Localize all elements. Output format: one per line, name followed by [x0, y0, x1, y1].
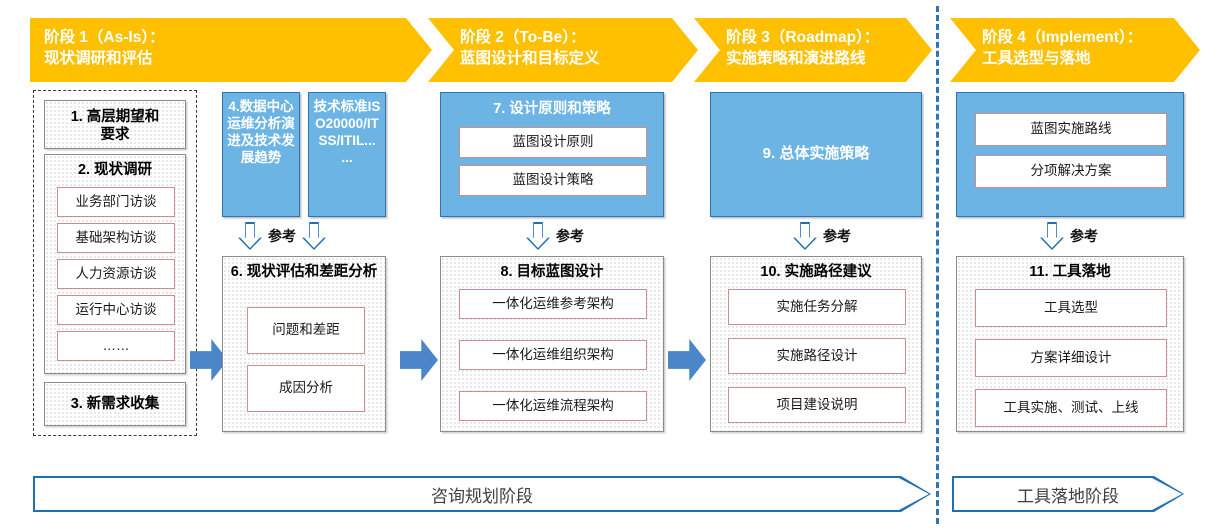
reference-label: 参考	[268, 226, 296, 246]
stage-banner-consulting: 咨询规划阶段	[33, 476, 931, 512]
phase-divider	[936, 6, 939, 524]
box-10-implementation-path: 10. 实施路径建议 实施任务分解 实施路径设计 项目建设说明	[710, 256, 922, 432]
box-8-target-blueprint: 8. 目标蓝图设计 一体化运维参考架构 一体化运维组织架构 一体化运维流程架构	[440, 256, 664, 432]
list-item[interactable]: 问题和差距	[247, 307, 365, 354]
list-item[interactable]: 项目建设说明	[728, 387, 906, 423]
box-technical-standards: 技术标准ISO20000/ITSS/ITIL... ...	[308, 92, 386, 217]
reference-arrow-group-col2: 参考	[238, 222, 326, 250]
box-11-title: 11. 工具落地	[957, 257, 1183, 281]
phase-banner-4: 阶段 4（Implement）： 工具选型与落地	[950, 18, 1200, 82]
box-8-title: 8. 目标蓝图设计	[441, 257, 663, 281]
phase-banner-3-line1: 阶段 3（Roadmap）：	[726, 27, 932, 48]
list-item[interactable]: 一体化运维参考架构	[459, 289, 647, 319]
box-1-high-level-expectations: 1. 高层期望和 要求	[44, 100, 186, 149]
phase-banner-4-line1: 阶段 4（Implement）：	[982, 27, 1200, 48]
list-item[interactable]: 蓝图设计原则	[459, 127, 647, 158]
phase-banner-2-line2: 蓝图设计和目标定义	[460, 48, 698, 69]
reference-label: 参考	[1070, 226, 1098, 246]
flow-arrow-2	[400, 339, 438, 381]
reference-arrow-group-col5: 参考	[1040, 222, 1104, 250]
phase-banner-3: 阶段 3（Roadmap）： 实施策略和演进路线	[694, 18, 932, 82]
box-2-title: 2. 现状调研	[45, 155, 185, 179]
reference-arrow-group-col4: 参考	[793, 222, 857, 250]
phase-banner-2-line1: 阶段 2（To-Be）：	[460, 27, 698, 48]
box-3-new-requirements: 3. 新需求收集	[44, 382, 186, 426]
list-item[interactable]: 方案详细设计	[975, 339, 1167, 377]
arrow-down-icon	[526, 222, 550, 250]
list-item[interactable]: 蓝图设计策略	[459, 165, 647, 196]
box-9-title: 9. 总体实施策略	[763, 145, 870, 164]
box-2-current-state-survey: 2. 现状调研 业务部门访谈 基础架构访谈 人力资源访谈 运行中心访谈 ……	[44, 154, 186, 374]
reference-label: 参考	[823, 226, 851, 246]
box-6-gap-analysis: 6. 现状评估和差距分析 问题和差距 成因分析	[222, 256, 386, 432]
phase-banner-1-line2: 现状调研和评估	[44, 48, 432, 69]
phase-banner-1-line1: 阶段 1（As-Is）：	[44, 27, 432, 48]
list-item[interactable]: 工具实施、测试、上线	[975, 389, 1167, 427]
list-item[interactable]: 一体化运维组织架构	[459, 340, 647, 370]
list-item[interactable]: 基础架构访谈	[57, 223, 175, 253]
reference-label: 参考	[556, 226, 584, 246]
stage-banner-tooling: 工具落地阶段	[952, 476, 1184, 512]
list-item[interactable]: 工具选型	[975, 289, 1167, 327]
arrow-down-icon	[793, 222, 817, 250]
stage-banner-tooling-label: 工具落地阶段	[1017, 482, 1119, 507]
list-item[interactable]: 运行中心访谈	[57, 295, 175, 325]
arrow-down-icon	[302, 222, 326, 250]
list-item[interactable]: 业务部门访谈	[57, 187, 175, 217]
stage-banner-consulting-label: 咨询规划阶段	[431, 482, 533, 507]
list-item[interactable]: 一体化运维流程架构	[459, 391, 647, 421]
list-item[interactable]: 分项解决方案	[975, 155, 1167, 188]
technical-standards-title: 技术标准ISO20000/ITSS/ITIL... ...	[309, 93, 385, 167]
process-diagram-canvas: 阶段 1（As-Is）： 现状调研和评估 阶段 2（To-Be）： 蓝图设计和目…	[0, 0, 1217, 530]
list-item[interactable]: 成因分析	[247, 365, 365, 412]
box-4-datacenter-ops-trends: 4.数据中心运维分析演进及技术发展趋势	[222, 92, 300, 217]
box-6-title: 6. 现状评估和差距分析	[223, 257, 385, 281]
phase-banner-2: 阶段 2（To-Be）： 蓝图设计和目标定义	[428, 18, 698, 82]
list-item[interactable]: 实施路径设计	[728, 338, 906, 374]
box-1-title: 1. 高层期望和 要求	[45, 101, 185, 144]
box-10-title: 10. 实施路径建议	[711, 257, 921, 281]
box-4-title: 4.数据中心运维分析演进及技术发展趋势	[223, 93, 299, 167]
box-roadmap-deliverables: 蓝图实施路线 分项解决方案	[956, 92, 1184, 217]
box-3-title: 3. 新需求收集	[45, 383, 185, 413]
list-item[interactable]: ……	[57, 331, 175, 361]
flow-arrow-3	[668, 339, 706, 381]
arrow-down-icon	[1040, 222, 1064, 250]
phase-banner-4-line2: 工具选型与落地	[982, 48, 1200, 69]
list-item[interactable]: 蓝图实施路线	[975, 113, 1167, 146]
box-7-design-principles: 7. 设计原则和策略 蓝图设计原则 蓝图设计策略	[440, 92, 664, 217]
box-7-title: 7. 设计原则和策略	[441, 93, 663, 118]
arrow-down-icon	[238, 222, 262, 250]
list-item[interactable]: 实施任务分解	[728, 289, 906, 325]
reference-arrow-group-col3: 参考	[526, 222, 590, 250]
phase-banner-3-line2: 实施策略和演进路线	[726, 48, 932, 69]
box-11-tool-landing: 11. 工具落地 工具选型 方案详细设计 工具实施、测试、上线	[956, 256, 1184, 432]
phase-banner-1: 阶段 1（As-Is）： 现状调研和评估	[30, 18, 432, 82]
box-9-overall-strategy: 9. 总体实施策略	[710, 92, 922, 217]
list-item[interactable]: 人力资源访谈	[57, 259, 175, 289]
